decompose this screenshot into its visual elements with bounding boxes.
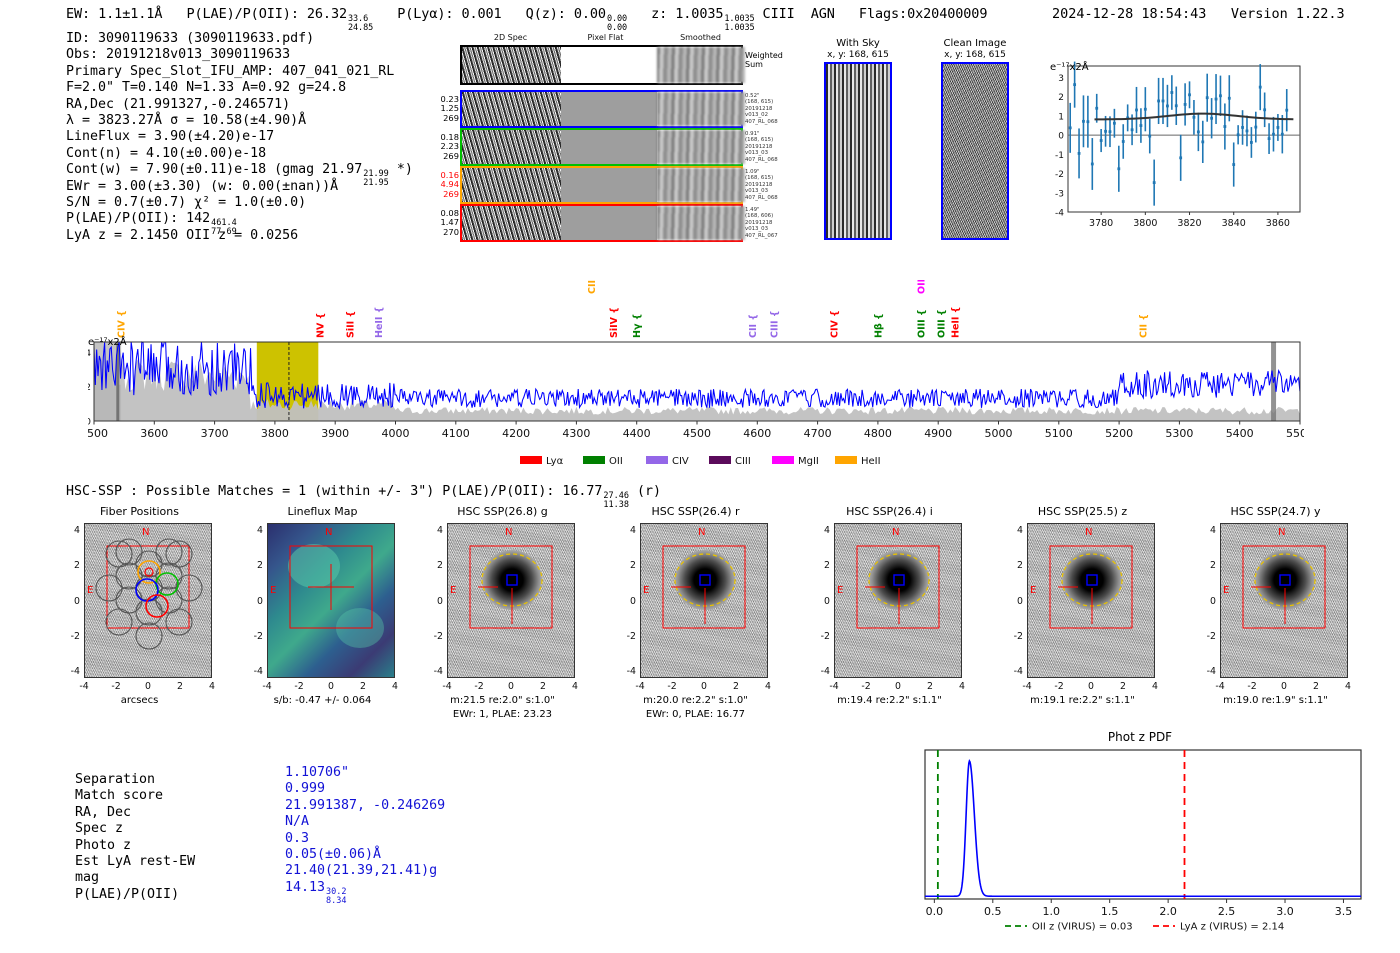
header-summary-line: EW: 1.1±1.1Å P(LAE)/P(OII): 26.3233.624.… [66,6,987,32]
svg-text:CIII {: CIII { [587,280,598,294]
match-value-radec: 21.991387, -0.246269 [285,798,445,814]
twod-row-weighted-sum: Weighted Sum [460,45,743,85]
cutout-xtick: -2 [109,681,123,692]
cutout-ytick: 0 [423,596,443,607]
compass-e-2: E [450,585,456,596]
compass-e-0: E [87,585,93,596]
svg-text:3700: 3700 [201,427,229,440]
cutout-image-3[interactable] [640,523,768,678]
cutout-ytick: -2 [616,631,636,642]
info-line-redshifts: LyA z = 2.1450 OII z = 0.0256 [66,228,413,244]
twod-fiber1-smoothed [657,92,745,126]
info-plae-pre: P(LAE)/P(OII): 142 [66,211,210,226]
info-cont-w-post: *) [397,162,413,177]
cutout-xtick: -4 [633,681,647,692]
info-line-cont-n: Cont(n) = 4.10(±0.00)e-18 [66,146,413,162]
match-label-radec: RA, Dec [75,805,195,821]
twod-spec-panel: 2D Spec Pixel Flat Smoothed Weighted Sum… [425,33,755,243]
cleanimage-title: Clean Image [930,38,1020,49]
cutout-ytick: -2 [243,631,263,642]
match-value-matchscore: 0.999 [285,781,445,797]
svg-text:3.0: 3.0 [1276,905,1294,918]
header-line-id: CIII [763,6,795,22]
compass-e-6: E [1223,585,1229,596]
cutout-xtick: -4 [1020,681,1034,692]
svg-text:1.0: 1.0 [1042,905,1060,918]
cutout-ytick: 0 [616,596,636,607]
twod-fiber4-2dspec [462,206,561,240]
cutout-xtick: -4 [827,681,841,692]
info-line-cont-w: Cont(w) = 7.90(±0.11)e-18 (gmag 21.9721.… [66,162,413,178]
cutout-ytick: 2 [616,560,636,571]
svg-text:OIII {: OIII { [917,280,928,294]
cutout-ytick: 0 [1196,596,1216,607]
info-line-id: ID: 3090119633 (3090119633.pdf) [66,31,413,47]
cutout-xtick: 0 [141,681,155,692]
cutout-ytick: 4 [60,525,80,536]
compass-n-0: N [142,527,149,538]
cutout-xtick: 0 [697,681,711,692]
full-spectrum-svg: 0243500360037003800390040004100420043004… [88,280,1304,465]
twod-fiber1-left-labels: 0.23 1.25 269 [441,95,459,123]
cutout-xtick: -2 [292,681,306,692]
cutout-ytick: 2 [1003,560,1023,571]
cutout-ytick: -2 [1003,631,1023,642]
cutout-ytick: -2 [810,631,830,642]
svg-text:3800: 3800 [1133,218,1157,229]
cutout-ytick: 2 [423,560,443,571]
cutout-image-2[interactable] [447,523,575,678]
svg-text:4100: 4100 [442,427,470,440]
photz-pdf-chart: Phot z PDF 0.00.51.01.52.02.53.03.5OII z… [905,730,1375,945]
svg-text:CIV: CIV [672,456,689,467]
match-table-values: 1.10706" 0.999 21.991387, -0.246269 N/A … [285,765,445,905]
cutout-xtick: 0 [1277,681,1291,692]
twod-fiber4-left-labels: 0.08 1.47 270 [441,209,459,237]
header-qz-value: 0.00 [574,6,606,22]
header-datetime: 2024-12-28 18:54:43 [1052,6,1206,22]
compass-n-1: N [325,527,332,538]
cleanimage-subtitle: x, y: 168, 615 [930,50,1020,60]
svg-text:CIV {: CIV { [829,310,840,338]
full-spectrum-legend: LyαOIICIVCIIIMgIIHeII [520,452,900,468]
svg-text:2.5: 2.5 [1218,905,1236,918]
cutout-title-4: HSC SSP(26.4) i [812,505,967,518]
twod-fiber1-2dspec [462,92,561,126]
svg-text:MgII: MgII [798,456,819,467]
cutout-image-4[interactable] [834,523,962,678]
twod-fiber2-right-labels: 0.91" (168, 615) 20191218 v013_03 407_RL… [745,131,778,163]
svg-text:OIII {: OIII { [937,309,948,338]
cutout-title-3: HSC SSP(26.4) r [618,505,773,518]
cutout-xtick: -4 [1213,681,1227,692]
cutout-title-5: HSC SSP(25.5) z [1005,505,1160,518]
info-line-sn: S/N = 0.7(±0.7) χ² = 1.0(±0.0) [66,195,413,211]
twod-weighted-sum-label: Weighted Sum [745,51,783,69]
svg-text:5500: 5500 [1286,427,1304,440]
svg-text:2: 2 [88,383,91,393]
match-value-estlyaew: 0.05(±0.06)Å [285,847,445,863]
cutout-ytick: -4 [616,666,636,677]
cutout-ytick: -2 [423,631,443,642]
svg-text:3600: 3600 [140,427,168,440]
cutout-panel-row: Fiber PositionsNE-4-4-2-2002244arcsecsLi… [0,505,1400,730]
cutout-ytick: 0 [60,596,80,607]
svg-text:4000: 4000 [382,427,410,440]
svg-text:0: 0 [88,418,91,428]
info-line-lineflux: LineFlux = 3.90(±4.20)e-17 [66,129,413,145]
svg-text:3840: 3840 [1222,218,1246,229]
withsky-title: With Sky [818,38,898,49]
compass-n-3: N [698,527,705,538]
info-line-radec: RA,Dec (21.991327,-0.246571) [66,97,413,113]
twod-fiber3-right-labels: 1.09" (168, 615) 20191218 v013_03 407_RL… [745,169,778,201]
compass-e-1: E [270,585,276,596]
cutout-ytick: 2 [243,560,263,571]
cutout-caption1-5: m:19.1 re:2.2" s:1.1" [1005,695,1160,706]
svg-text:2.0: 2.0 [1159,905,1177,918]
match-label-separation: Separation [75,772,195,788]
cleanimage-image [941,62,1009,240]
svg-text:-2: -2 [1055,170,1064,180]
info-line-plae: P(LAE)/P(OII): 142461.477.69 [66,211,413,227]
compass-n-6: N [1278,527,1285,538]
svg-text:1.5: 1.5 [1101,905,1119,918]
svg-text:-4: -4 [1055,209,1064,219]
compass-n-2: N [505,527,512,538]
photz-pdf-svg: 0.00.51.01.52.02.53.03.5OII z (VIRUS) = … [905,744,1375,944]
svg-text:4200: 4200 [502,427,530,440]
match-label-estlyaew: Est LyA rest-EW [75,854,195,870]
cutout-xtick: -2 [859,681,873,692]
withsky-image [824,62,892,240]
cutout-ytick: 0 [243,596,263,607]
cutout-xtick: -2 [1245,681,1259,692]
twod-title-pixelflat: Pixel Flat [558,33,653,42]
full-spectrum-yunit: e⁻¹⁷x2Å [88,337,127,348]
cutout-ytick: -4 [243,666,263,677]
cutout-xtick: 4 [761,681,775,692]
match-label-mag: mag [75,870,195,886]
header-z-label: z: [651,6,667,22]
svg-text:3780: 3780 [1089,218,1113,229]
header-ew-value: 1.1±1.1Å [98,6,162,22]
cutout-xtick: 2 [356,681,370,692]
zoom-spectrum-svg: -4-3-2-1012337803800382038403860 [1038,60,1304,240]
svg-text:5400: 5400 [1226,427,1254,440]
svg-text:4300: 4300 [562,427,590,440]
info-line-ewr: EWr = 3.00(±3.30) (w: 0.00(±nan))Å [66,179,413,195]
svg-text:3860: 3860 [1266,218,1290,229]
cutout-xtick: -2 [665,681,679,692]
cutout-xtick: 2 [923,681,937,692]
cutout-caption1-6: m:19.0 re:1.9" s:1.1" [1198,695,1353,706]
cutout-xtick: -2 [472,681,486,692]
twod-fiber2-left-labels: 0.18 2.23 269 [441,133,459,161]
header-version: Version 1.22.3 [1231,6,1345,22]
header-z-value: 1.0035 [675,6,723,22]
twod-fiber3-left-labels: 0.16 4.94 269 [441,171,459,199]
cutout-xtick: 4 [568,681,582,692]
twod-fiber4-right-labels: 1.49" (168, 606) 20191218 v013_03 407_RL… [745,207,778,239]
hsc-heading-text: HSC-SSP : Possible Matches = 1 (within +… [66,484,602,499]
match-plae-lo: 8.34 [326,897,346,906]
twod-image-pixelflat [561,47,657,83]
svg-text:4900: 4900 [924,427,952,440]
twod-fiber1-right-labels: 0.52" (168, 615) 20191218 v013_02 407_RL… [745,93,778,125]
header-flags: Flags:0x20400009 [859,6,987,22]
cutout-image-0[interactable] [84,523,212,678]
svg-text:4800: 4800 [864,427,892,440]
twod-fiber3-pixelflat [561,168,657,202]
cutout-ytick: 2 [810,560,830,571]
match-value-plae: 14.1330.28.34 [285,880,445,905]
svg-text:OII z (VIRUS) = 0.03: OII z (VIRUS) = 0.03 [1032,922,1133,933]
svg-text:4400: 4400 [623,427,651,440]
twod-row-fiber-2: 0.18 2.23 269 0.91" (168, 615) 20191218 … [460,128,743,166]
svg-text:-1: -1 [1055,151,1064,161]
hsc-heading-tail: (r) [637,484,661,499]
zoom-spectrum-chart: -4-3-2-1012337803800382038403860 e⁻¹⁷x2Å [1038,60,1304,240]
svg-text:5200: 5200 [1105,427,1133,440]
object-info-block: ID: 3090119633 (3090119633.pdf) Obs: 201… [66,31,413,244]
twod-fiber4-pixelflat [561,206,657,240]
cutout-title-1: Lineflux Map [245,505,400,518]
cutout-caption1-3: m:20.0 re:2.2" s:1.0" [618,695,773,706]
svg-text:OIII {: OIII { [917,309,928,338]
cutout-ytick: 4 [1196,525,1216,536]
cutout-xtick: 0 [504,681,518,692]
cutout-xtick: 2 [1116,681,1130,692]
twod-image-2dspec [462,47,561,83]
svg-text:3.5: 3.5 [1335,905,1353,918]
svg-text:OII: OII [609,456,623,467]
twod-fiber4-smoothed [657,206,745,240]
svg-text:SiII {: SiII { [346,311,357,338]
svg-text:NV {: NV { [316,313,327,338]
cutout-ytick: -4 [423,666,443,677]
cutout-xtick: 4 [1148,681,1162,692]
cutout-xtick: 4 [1341,681,1355,692]
match-value-photoz: 0.3 [285,831,445,847]
svg-text:4: 4 [88,349,91,359]
photz-pdf-title: Phot z PDF [905,730,1375,744]
cutout-xtick: 2 [173,681,187,692]
cutout-ytick: 2 [1196,560,1216,571]
twod-fiber1-pixelflat [561,92,657,126]
svg-text:3820: 3820 [1177,218,1201,229]
svg-text:3500: 3500 [88,427,108,440]
twod-fiber3-2dspec [462,168,561,202]
svg-text:0.0: 0.0 [926,905,944,918]
cutout-xtick: 4 [388,681,402,692]
header-qz-lo: 0.00 [607,24,627,33]
match-value-mag: 21.40(21.39,21.41)g [285,863,445,879]
compass-e-5: E [1030,585,1036,596]
cutout-xtick: 0 [324,681,338,692]
match-label-photoz: Photo z [75,838,195,854]
cutout-title-6: HSC SSP(24.7) y [1198,505,1353,518]
match-table-labels: Separation Match score RA, Dec Spec z Ph… [75,772,195,903]
match-value-separation: 1.10706" [285,765,445,781]
svg-text:CIII {: CIII { [770,310,781,338]
cutout-ytick: 2 [60,560,80,571]
twod-fiber3-smoothed [657,168,745,202]
cutout-xtick: 4 [205,681,219,692]
compass-e-4: E [837,585,843,596]
svg-text:3900: 3900 [321,427,349,440]
cutout-xtick: 2 [1309,681,1323,692]
svg-text:4600: 4600 [743,427,771,440]
cutout-image-1[interactable] [267,523,395,678]
info-line-params: F=2.0" T=0.140 N=1.33 A=0.92 g=24.8 [66,80,413,96]
header-plya-label: P(Lyα): [397,6,453,22]
cutout-xtick: 0 [891,681,905,692]
info-line-lambda: λ = 3823.27Å σ = 10.58(±4.90)Å [66,113,413,129]
svg-text:0: 0 [1058,132,1064,142]
svg-text:5300: 5300 [1165,427,1193,440]
svg-text:3800: 3800 [261,427,289,440]
cutout-ytick: -4 [1003,666,1023,677]
cutout-title-0: Fiber Positions [62,505,217,518]
twod-row-fiber-4: 0.08 1.47 270 1.49" (168, 606) 20191218 … [460,204,743,242]
svg-text:3: 3 [1058,74,1064,84]
cutout-ytick: 0 [1003,596,1023,607]
svg-text:4700: 4700 [804,427,832,440]
header-z-lo: 1.0035 [724,24,754,33]
cutout-xtick: -4 [77,681,91,692]
twod-fiber2-smoothed [657,130,745,164]
svg-text:4500: 4500 [683,427,711,440]
cutout-xtick: -4 [440,681,454,692]
header-plya-value: 0.001 [461,6,501,22]
cutout-ytick: -4 [60,666,80,677]
svg-text:CII {: CII { [1139,314,1150,338]
match-label-plae: P(LAE)/P(OII) [75,887,195,903]
twod-image-smoothed [657,47,745,83]
svg-text:2: 2 [1058,93,1064,103]
svg-text:0.5: 0.5 [984,905,1002,918]
cutout-xtick: 0 [1084,681,1098,692]
cutout-xtick: 2 [536,681,550,692]
svg-text:Hγ {: Hγ { [632,314,643,339]
cutout-caption2-2: EWr: 1, PLAE: 23.23 [425,709,580,720]
cutout-ytick: 4 [423,525,443,536]
svg-text:SiIV {: SiIV { [609,307,620,338]
twod-row-fiber-1: 0.23 1.25 269 0.52" (168, 615) 20191218 … [460,90,743,128]
header-ew-label: EW: [66,6,90,22]
cutout-xtick: -2 [1052,681,1066,692]
svg-text:LyA z (VIRUS) = 2.14: LyA z (VIRUS) = 2.14 [1180,922,1284,933]
svg-text:Lyα: Lyα [546,456,564,467]
svg-text:HeII {: HeII { [950,306,961,338]
header-plae-label: P(LAE)/P(OII): [186,6,298,22]
svg-text:-3: -3 [1055,189,1064,199]
cutout-image-6[interactable] [1220,523,1348,678]
match-label-matchscore: Match score [75,788,195,804]
svg-text:CIV {: CIV { [117,310,128,338]
compass-n-5: N [1085,527,1092,538]
header-class: AGN [811,6,835,22]
cutout-ytick: 0 [810,596,830,607]
cutout-caption2-3: EWr: 0, PLAE: 16.77 [618,709,773,720]
cutout-ytick: -4 [810,666,830,677]
cutout-xtick: 2 [729,681,743,692]
compass-e-3: E [643,585,649,596]
compass-n-4: N [892,527,899,538]
cutout-title-2: HSC SSP(26.8) g [425,505,580,518]
twod-fiber2-pixelflat [561,130,657,164]
cutout-xlabel-0: arcsecs [62,695,217,706]
cutout-ytick: 4 [243,525,263,536]
cutout-caption1-2: m:21.5 re:2.0" s:1.0" [425,695,580,706]
info-cont-w-lo: 21.95 [363,179,389,188]
svg-text:CII {: CII { [748,314,759,338]
cutout-ytick: 4 [1003,525,1023,536]
cutout-xtick: -4 [260,681,274,692]
full-spectrum-chart: 0243500360037003800390040004100420043004… [88,280,1304,465]
twod-row-fiber-3: 0.16 4.94 269 1.09" (168, 615) 20191218 … [460,166,743,204]
svg-text:HeII {: HeII { [374,306,385,338]
cutout-caption1-1: s/b: -0.47 +/- 0.064 [245,695,400,706]
info-line-slot: Primary Spec_Slot_IFU_AMP: 407_041_021_R… [66,64,413,80]
twod-fiber2-2dspec [462,130,561,164]
svg-text:Hβ {: Hβ { [873,313,884,338]
cutout-image-5[interactable] [1027,523,1155,678]
svg-text:5000: 5000 [985,427,1013,440]
cutout-ytick: -4 [1196,666,1216,677]
match-value-specz: N/A [285,814,445,830]
header-plae-value: 26.32 [307,6,347,22]
info-cont-w-pre: Cont(w) = 7.90(±0.11)e-18 (gmag 21.97 [66,162,362,177]
cutout-ytick: 4 [616,525,636,536]
withsky-subtitle: x, y: 168, 615 [818,50,898,60]
svg-text:CIII: CIII [735,456,751,467]
zoom-spectrum-yunit: e⁻¹⁷x2Å [1050,62,1089,73]
twod-title-2dspec: 2D Spec [463,33,558,42]
match-label-specz: Spec z [75,821,195,837]
cutout-caption1-4: m:19.4 re:2.2" s:1.1" [812,695,967,706]
cutout-ytick: -2 [1196,631,1216,642]
info-line-obs: Obs: 20191218v013_3090119633 [66,47,413,63]
cutout-xtick: 4 [955,681,969,692]
twod-title-smoothed: Smoothed [653,33,748,42]
svg-text:1: 1 [1058,112,1064,122]
cutout-ytick: 4 [810,525,830,536]
svg-text:5100: 5100 [1045,427,1073,440]
header-qz-label: Q(z): [526,6,566,22]
header-timestamp-version: 2024-12-28 18:54:43 Version 1.22.3 [1052,6,1345,22]
cutout-ytick: -2 [60,631,80,642]
svg-text:HeII: HeII [861,456,881,467]
